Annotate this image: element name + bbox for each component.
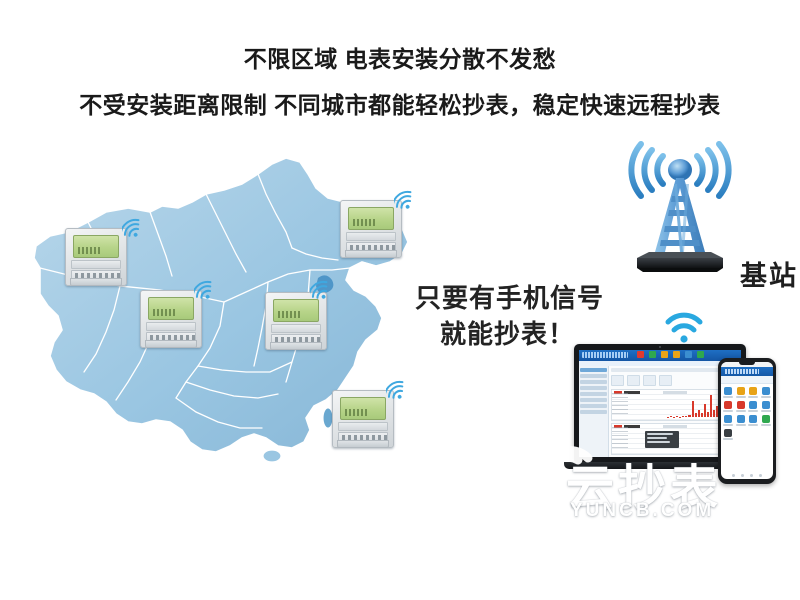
phone-app-icon-7[interactable]: [761, 401, 772, 412]
meter-body: [332, 390, 394, 448]
tower-base: [637, 252, 723, 272]
app-logo: [582, 352, 628, 358]
phone-icon-grid[interactable]: [721, 384, 773, 443]
app-icon-label: [748, 396, 758, 398]
app-icon-glyph: [737, 415, 745, 423]
chart-bar: [682, 416, 684, 417]
app-icon-label: [723, 410, 733, 412]
chart-bar: [676, 416, 678, 417]
phone-banner: [721, 376, 773, 384]
chart-tooltip: [645, 431, 679, 448]
phone-app-icon-12[interactable]: [723, 429, 734, 440]
app-toolbar[interactable]: [637, 351, 704, 358]
toolbar-icon-5[interactable]: [685, 351, 692, 358]
sidebar-item-2[interactable]: [580, 380, 607, 384]
meter-cover: [145, 340, 197, 348]
phone-app-icon-10[interactable]: [748, 415, 759, 426]
chart-bar: [701, 413, 703, 417]
base-station-label: 基站: [740, 254, 798, 293]
phone-app-icon-4[interactable]: [723, 401, 734, 412]
app-icon-glyph: [762, 401, 770, 409]
app-icon-glyph: [749, 401, 757, 409]
app-icon-glyph: [724, 401, 732, 409]
chart-bar: [670, 416, 672, 417]
phone-app-icon-3[interactable]: [761, 387, 772, 398]
app-icon-label: [723, 396, 733, 398]
toolbar-icon-6[interactable]: [697, 351, 704, 358]
meter-lcd: [148, 297, 194, 320]
toolbar-icon-1[interactable]: [637, 351, 644, 358]
meter-body: [65, 228, 127, 286]
meter-body: [140, 290, 202, 348]
chart-title: [663, 391, 687, 394]
phone-app-icon-6[interactable]: [748, 401, 759, 412]
meter-cover: [270, 342, 322, 350]
chart-bar: [685, 416, 687, 417]
phone-app-icon-11[interactable]: [761, 415, 772, 426]
meter-nameplate: [338, 422, 388, 431]
app-icon-glyph: [762, 415, 770, 423]
app-icon-label: [761, 396, 771, 398]
meter-lcd: [273, 299, 319, 322]
phone-app-logo: [725, 369, 759, 374]
laptop-screen: [579, 350, 741, 457]
meter-nameplate: [71, 260, 121, 269]
poster-canvas: 不限区域 电表安装分散不发愁 不受安装距离限制 不同城市都能轻松抄表，稳定快速远…: [0, 0, 800, 600]
chart-bar: [710, 395, 712, 417]
signal-arcs-icon: [386, 378, 412, 402]
phone-app-icon-0[interactable]: [723, 387, 734, 398]
chart-y-axis: [612, 427, 628, 451]
app-icon-glyph: [749, 387, 757, 395]
app-icon-glyph: [737, 401, 745, 409]
device-cluster: [560, 340, 800, 520]
button-3[interactable]: [643, 375, 656, 386]
toolbar-icon-4[interactable]: [673, 351, 680, 358]
meter-cover: [337, 440, 389, 448]
app-icon-glyph: [737, 387, 745, 395]
phone-app-icon-2[interactable]: [748, 387, 759, 398]
app-icon-label: [748, 410, 758, 412]
app-icon-glyph: [749, 415, 757, 423]
callout-line-1: 只要有手机信号: [415, 278, 604, 315]
button-1[interactable]: [611, 375, 624, 386]
signal-arcs-icon: [122, 216, 148, 240]
chart-bar: [692, 401, 694, 417]
map-island-hainan: [263, 450, 281, 462]
app-icon-glyph: [724, 415, 732, 423]
chart-bar: [688, 415, 690, 417]
sidebar-item-5[interactable]: [580, 398, 607, 402]
meter-northwest[interactable]: [65, 228, 127, 286]
phone-home-indicator: [721, 474, 773, 477]
sidebar-item-6[interactable]: [580, 404, 607, 408]
webcam-icon: [659, 346, 661, 348]
signal-arcs-icon: [310, 278, 336, 302]
app-sidebar[interactable]: [579, 366, 609, 457]
meter-body: [340, 200, 402, 258]
app-icon-glyph: [724, 387, 732, 395]
phone-app-icon-1[interactable]: [736, 387, 747, 398]
app-icon-label: [761, 410, 771, 412]
meter-lcd: [348, 207, 394, 230]
chart-bar: [704, 404, 706, 417]
phone-app-icon-9[interactable]: [736, 415, 747, 426]
chart-title: [663, 425, 687, 428]
meter-southeast[interactable]: [332, 390, 394, 448]
phone-screen: [721, 362, 773, 479]
meter-nameplate: [346, 232, 396, 241]
app-icon-label: [748, 424, 758, 426]
app-icon-label: [736, 424, 746, 426]
chart-bar: [713, 410, 715, 417]
sidebar-item-4[interactable]: [580, 392, 607, 396]
sidebar-item-0[interactable]: [580, 368, 607, 372]
meter-northeast[interactable]: [340, 200, 402, 258]
chart-y-axis: [612, 393, 628, 417]
callout-line-2: 就能抄表！: [440, 314, 575, 351]
phone-app-icon-8[interactable]: [723, 415, 734, 426]
app-icon-label: [736, 396, 746, 398]
button-4[interactable]: [659, 375, 672, 386]
china-map: [10, 150, 440, 480]
chart-bar: [698, 410, 700, 417]
toolbar-icon-3[interactable]: [661, 351, 668, 358]
sidebar-item-1[interactable]: [580, 374, 607, 378]
sidebar-item-3[interactable]: [580, 386, 607, 390]
app-icon-label: [723, 424, 733, 426]
tower-dome: [668, 159, 692, 181]
meter-southwest[interactable]: [140, 290, 202, 348]
chart-bar: [695, 413, 697, 417]
signal-arcs-icon: [394, 188, 420, 212]
chart-bar: [707, 412, 709, 417]
app-icon-label: [736, 410, 746, 412]
button-2[interactable]: [627, 375, 640, 386]
meter-cover: [345, 250, 397, 258]
meter-lcd: [73, 235, 119, 258]
phone-app-header: [721, 367, 773, 376]
smartphone-device[interactable]: [718, 358, 776, 484]
tower-lattice: [655, 178, 705, 252]
app-icon-glyph: [762, 387, 770, 395]
meter-lcd: [340, 397, 386, 420]
phone-app-icon-5[interactable]: [736, 401, 747, 412]
meter-cover: [70, 278, 122, 286]
meter-nameplate: [271, 324, 321, 333]
signal-arcs-icon: [194, 278, 220, 302]
app-icon-label: [761, 424, 771, 426]
cell-tower-icon: [625, 140, 735, 280]
app-icon-glyph: [724, 429, 732, 437]
app-icon-label: [723, 438, 733, 440]
headline-secondary: 不受安装距离限制 不同城市都能轻松抄表，稳定快速远程抄表: [0, 86, 800, 120]
meter-nameplate: [146, 322, 196, 331]
headline-primary: 不限区域 电表安装分散不发愁: [0, 40, 800, 74]
app-header-bar: [579, 350, 741, 361]
sidebar-item-7[interactable]: [580, 410, 607, 414]
toolbar-icon-2[interactable]: [649, 351, 656, 358]
